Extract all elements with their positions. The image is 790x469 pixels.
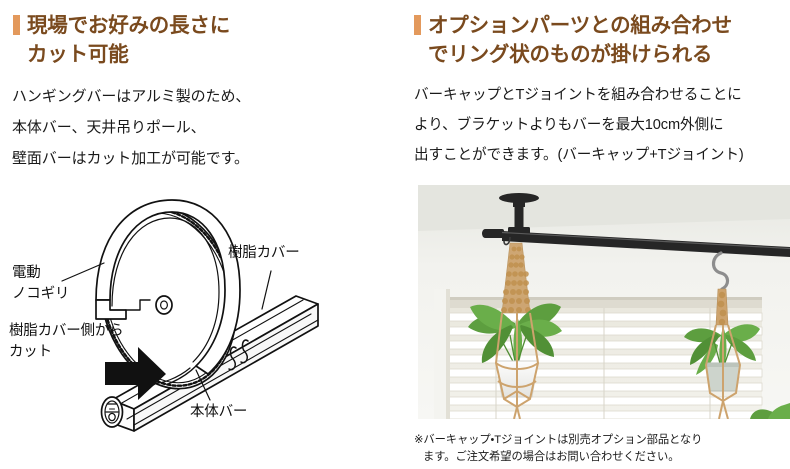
hanging-bar-photo-image [418, 185, 790, 419]
label-cut-line2: カット [9, 342, 123, 363]
left-panel-heading: 現場でお好みの長さに カット可能 [13, 11, 385, 69]
left-heading-line1: 現場でお好みの長さに [27, 14, 230, 37]
label-resin-cover: 樹脂カバー [228, 243, 300, 264]
left-heading-line2: カット可能 [27, 40, 385, 69]
right-body-line3: 出すことができます。(バーキャップ+Tジョイント) [414, 140, 788, 170]
label-cut-line1: 樹脂カバー側から [9, 321, 123, 342]
right-panel-body: バーキャップとTジョイントを組み合わせることに より、ブラケットよりもバーを最大… [414, 80, 788, 170]
footnote-note: ※バーキャップ・Tジョイントは別売オプション部品となり ます。ご注文希望の場合は… [414, 432, 786, 465]
right-panel-heading: オプションパーツとの組み合わせ でリング状のものが掛けられる [414, 11, 786, 69]
left-body-line1: ハンギングバーはアルミ製のため、 [12, 81, 390, 112]
left-body-line3: 壁面バーはカット加工が可能です。 [12, 143, 390, 174]
label-electric-saw-line1: 電動 [12, 263, 69, 284]
right-body-line2: より、ブラケットよりもバーを最大10cm外側に [414, 110, 788, 140]
cutting-diagram: 電動 ノコギリ 樹脂カバー側から カット 樹脂カバー 本体バー [0, 178, 400, 469]
heading-bullet-icon [13, 15, 20, 35]
product-feature-panel: 現場でお好みの長さに カット可能 ハンギングバーはアルミ製のため、 本体バー、天… [0, 0, 790, 469]
right-heading-line1: オプションパーツとの組み合わせ [428, 14, 732, 37]
left-panel: 現場でお好みの長さに カット可能 ハンギングバーはアルミ製のため、 本体バー、天… [0, 0, 400, 469]
right-heading-line2: でリング状のものが掛けられる [428, 40, 786, 69]
hanging-bar-photo [418, 185, 790, 419]
footnote-line1: ※バーキャップ・Tジョイントは別売オプション部品となり [414, 432, 786, 449]
right-body-line1: バーキャップとTジョイントを組み合わせることに [414, 80, 788, 110]
left-panel-body: ハンギングバーはアルミ製のため、 本体バー、天井吊りポール、 壁面バーはカット加… [12, 81, 390, 174]
label-cut-from-resin-cover: 樹脂カバー側から カット [9, 321, 123, 363]
label-electric-saw-line2: ノコギリ [12, 284, 69, 305]
label-body-bar: 本体バー [190, 402, 247, 423]
label-electric-saw: 電動 ノコギリ [12, 263, 69, 305]
right-panel: オプションパーツとの組み合わせ でリング状のものが掛けられる バーキャップとTジ… [400, 0, 790, 469]
footnote-line2: ます。ご注文希望の場合はお問い合わせください。 [414, 449, 786, 466]
left-body-line2: 本体バー、天井吊りポール、 [12, 112, 390, 143]
heading-bullet-icon [414, 15, 421, 35]
